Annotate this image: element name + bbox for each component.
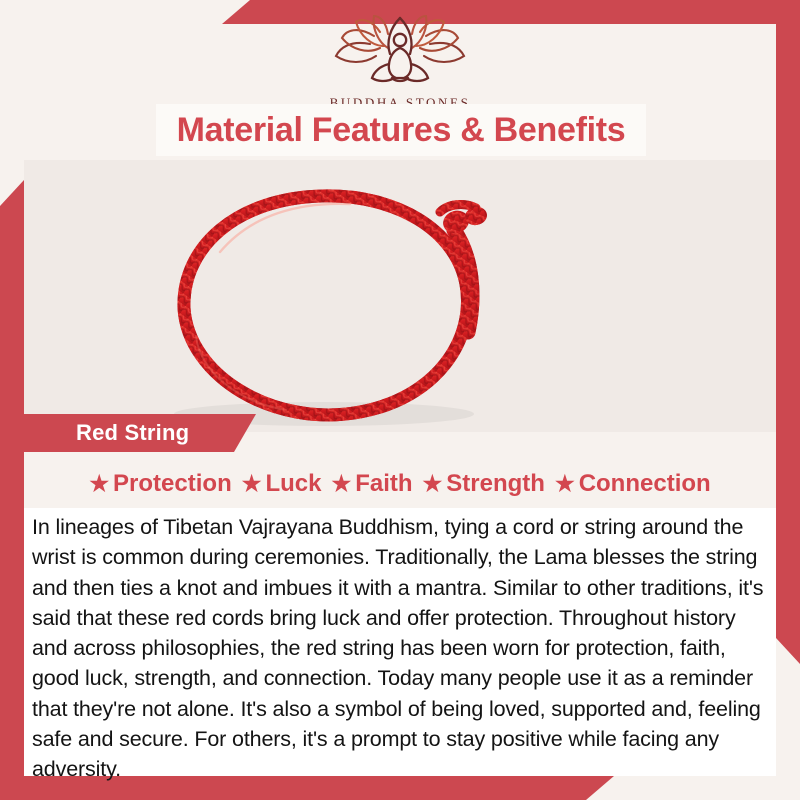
benefit-label: Luck <box>265 470 321 498</box>
title-panel: Material Features & Benefits <box>156 104 646 156</box>
product-photo <box>24 160 776 432</box>
star-icon: ★ <box>89 473 109 495</box>
benefit-item-protection: ★ Protection <box>86 470 234 498</box>
benefit-item-connection: ★ Connection <box>552 470 714 498</box>
red-string-bracelet-illustration <box>24 160 776 432</box>
infographic-page: BUDDHA STONES Material Features & Benefi… <box>0 0 800 800</box>
page-title: Material Features & Benefits <box>177 111 626 150</box>
benefits-list: ★ Protection ★ Luck ★ Faith ★ Strength ★… <box>24 466 776 502</box>
brand-logo: BUDDHA STONES <box>0 14 800 111</box>
star-icon: ★ <box>242 473 262 495</box>
description-text: In lineages of Tibetan Vajrayana Buddhis… <box>32 512 764 785</box>
benefit-label: Faith <box>355 470 412 498</box>
star-icon: ★ <box>423 473 443 495</box>
ribbon-label-text: Red String <box>24 420 189 446</box>
star-icon: ★ <box>555 473 575 495</box>
description-panel: In lineages of Tibetan Vajrayana Buddhis… <box>24 508 776 776</box>
frame-bar-left <box>0 180 24 800</box>
lotus-meditation-icon <box>334 14 466 93</box>
benefit-item-faith: ★ Faith <box>328 470 415 498</box>
red-string-ribbon-label: Red String <box>24 414 256 452</box>
benefit-label: Connection <box>579 470 711 498</box>
star-icon: ★ <box>331 473 351 495</box>
benefit-label: Strength <box>446 470 545 498</box>
benefit-label: Protection <box>113 470 232 498</box>
benefit-item-luck: ★ Luck <box>239 470 325 498</box>
benefit-item-strength: ★ Strength <box>420 470 548 498</box>
